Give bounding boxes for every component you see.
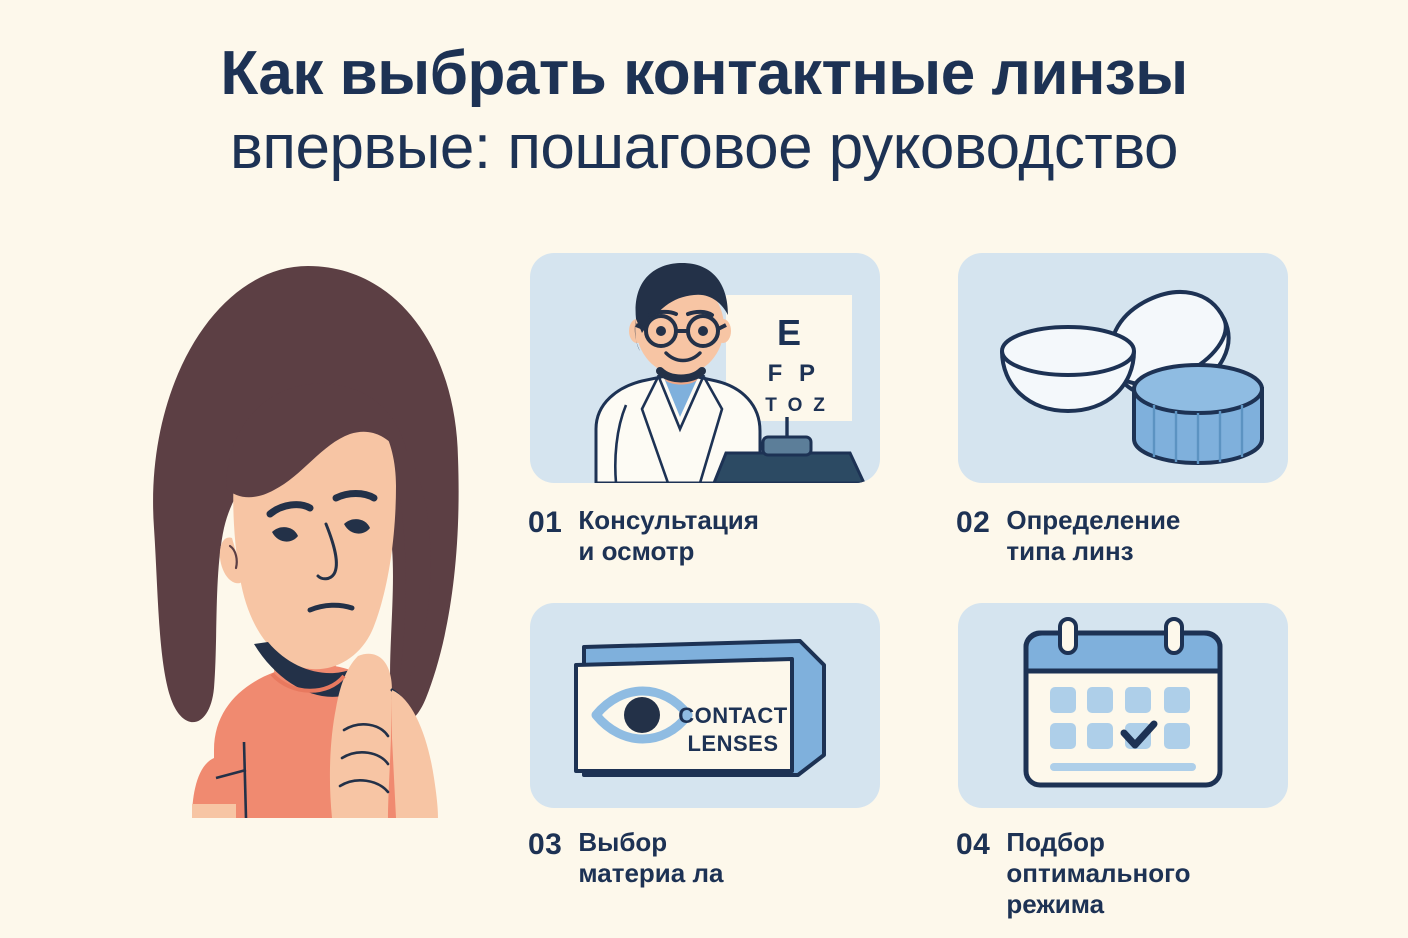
step-caption-1: 01 Консультация и осмотр [528, 505, 888, 567]
infographic-page: Как выбрать контактные линзы впервые: по… [0, 0, 1408, 938]
eye-chart-row-2-p: P [799, 360, 815, 387]
contact-lenses-case-icon [958, 253, 1288, 483]
step-label-3: Выбор материа ла [578, 827, 723, 889]
calendar-check-icon [958, 603, 1288, 808]
step-card-4[interactable] [958, 603, 1288, 808]
thinking-woman-illustration [96, 238, 496, 818]
step-card-2[interactable] [958, 253, 1288, 483]
step-caption-4: 04 Подбор оптимального режима [956, 827, 1316, 921]
step-card-1[interactable]: E F P T O Z [530, 253, 880, 483]
eye-chart-row-3-z: Z [813, 395, 825, 416]
box-text-line-2: LENSES [687, 731, 778, 756]
eye-chart-row-3-o: O [788, 395, 803, 416]
step-label-4: Подбор оптимального режима [1006, 827, 1190, 921]
title-line-1: Как выбрать контактные линзы [0, 42, 1408, 106]
step-caption-3: 03 Выбор материа ла [528, 827, 888, 889]
doctor-eye-chart-icon: E F P T O Z [530, 253, 880, 483]
step-number-2: 02 [956, 505, 990, 540]
eye-chart-row-3-t: T [765, 395, 777, 416]
eye-chart-row-2-f: F [768, 360, 783, 387]
eye-chart-row-1: E [777, 312, 801, 353]
step-label-2: Определение типа линз [1006, 505, 1180, 567]
lens-box-icon: CONTACT LENSES [530, 603, 880, 808]
step-card-3[interactable]: CONTACT LENSES [530, 603, 880, 808]
step-number-3: 03 [528, 827, 562, 862]
step-number-4: 04 [956, 827, 990, 862]
title-line-2: впервые: пошаговое руководство [0, 116, 1408, 180]
page-title: Как выбрать контактные линзы впервые: по… [0, 42, 1408, 180]
box-text-line-1: CONTACT [678, 703, 787, 728]
step-number-1: 01 [528, 505, 562, 540]
step-label-1: Консультация и осмотр [578, 505, 759, 567]
step-caption-2: 02 Определение типа линз [956, 505, 1316, 567]
